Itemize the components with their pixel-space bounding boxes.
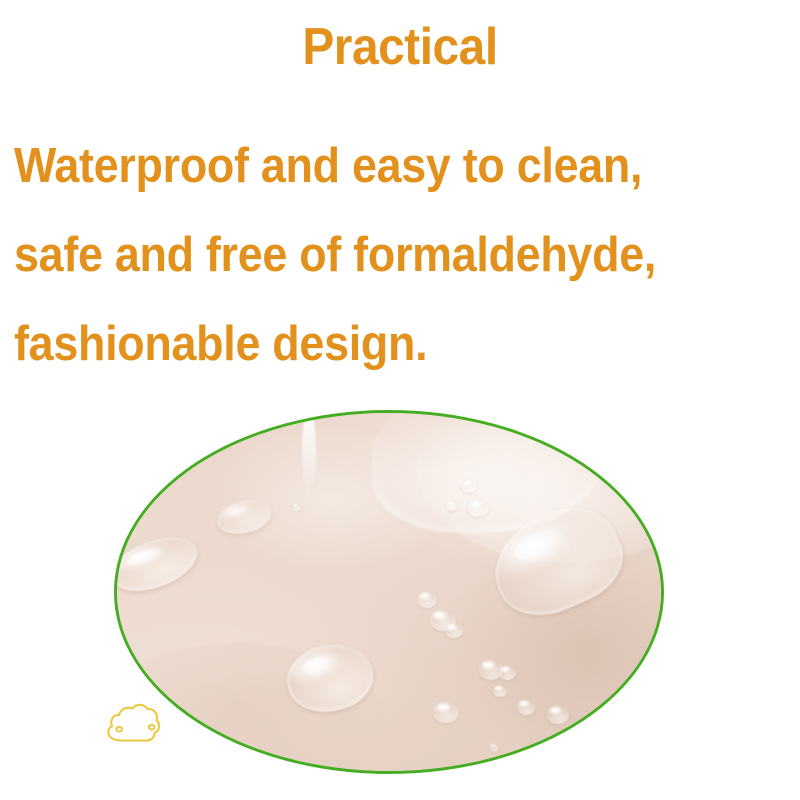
- water-droplet: [547, 705, 569, 724]
- water-droplet: [433, 701, 459, 723]
- description-line-1: Waterproof and easy to clean,: [14, 122, 726, 211]
- water-droplet: [489, 743, 499, 752]
- page-title: Practical: [32, 16, 768, 78]
- fabric-photo-ellipse: [114, 410, 664, 774]
- description-line-3: fashionable design.: [14, 300, 726, 389]
- description-line-2: safe and free of formaldehyde,: [14, 211, 726, 300]
- water-droplet: [292, 503, 301, 511]
- water-droplet: [499, 665, 516, 680]
- water-droplet: [461, 479, 477, 493]
- water-droplet: [445, 623, 463, 638]
- water-droplet: [467, 499, 489, 517]
- water-droplet: [417, 591, 437, 608]
- water-droplet: [517, 699, 535, 715]
- water-droplet: [446, 501, 457, 511]
- water-droplet: [493, 685, 507, 697]
- description-block: Waterproof and easy to clean, safe and f…: [14, 122, 792, 389]
- cloud-icon: [104, 700, 162, 746]
- feature-slide: Practical Waterproof and easy to clean, …: [0, 0, 800, 800]
